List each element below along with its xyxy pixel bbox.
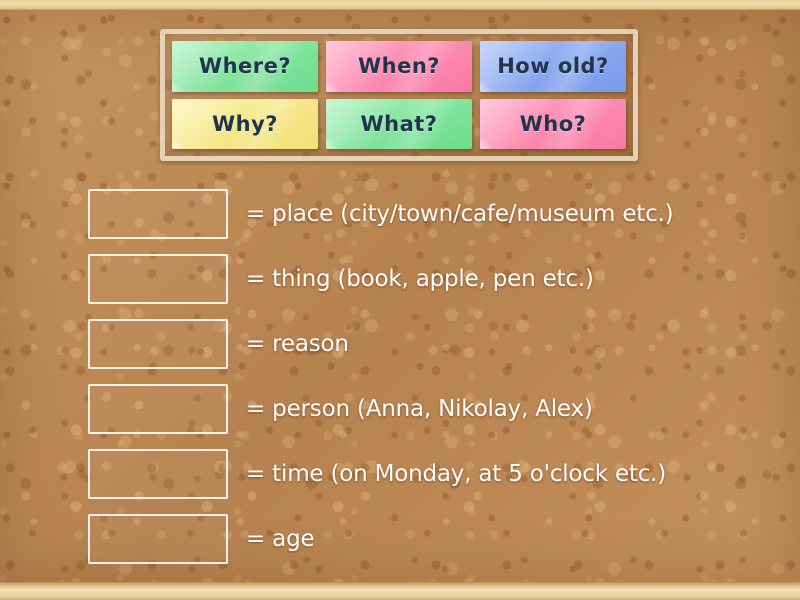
answer-row: = thing (book, apple, pen etc.) (88, 254, 778, 304)
tile-label: What? (360, 112, 437, 136)
answer-row: = time (on Monday, at 5 o'clock etc.) (88, 449, 778, 499)
tile-why[interactable]: Why? (172, 99, 318, 150)
tile-how-old[interactable]: How old? (480, 41, 626, 92)
tile-where[interactable]: Where? (172, 41, 318, 92)
answer-row: = person (Anna, Nikolay, Alex) (88, 384, 778, 434)
tile-label: Where? (199, 54, 291, 78)
tile-when[interactable]: When? (326, 41, 472, 92)
tile-label: Why? (212, 112, 278, 136)
drop-slot-3[interactable] (88, 319, 228, 369)
tile-tray: Where? When? How old? Why? What? Who? (160, 29, 638, 161)
tile-label: How old? (497, 54, 609, 78)
definition-label: = time (on Monday, at 5 o'clock etc.) (246, 461, 666, 487)
corkboard-activity: Where? When? How old? Why? What? Who? = … (0, 0, 800, 600)
drop-slot-6[interactable] (88, 514, 228, 564)
drop-slot-2[interactable] (88, 254, 228, 304)
tile-what[interactable]: What? (326, 99, 472, 150)
answer-row: = place (city/town/cafe/museum etc.) (88, 189, 778, 239)
definition-label: = reason (246, 331, 349, 357)
tile-who[interactable]: Who? (480, 99, 626, 150)
tile-label: Who? (520, 112, 587, 136)
answer-row: = reason (88, 319, 778, 369)
tile-grid: Where? When? How old? Why? What? Who? (172, 41, 626, 149)
drop-slot-5[interactable] (88, 449, 228, 499)
answer-row: = age (88, 514, 778, 564)
definition-label: = age (246, 526, 314, 552)
definition-label: = person (Anna, Nikolay, Alex) (246, 396, 593, 422)
definition-label: = thing (book, apple, pen etc.) (246, 266, 594, 292)
tile-label: When? (358, 54, 440, 78)
drop-slot-4[interactable] (88, 384, 228, 434)
answer-list: = place (city/town/cafe/museum etc.) = t… (88, 189, 778, 579)
definition-label: = place (city/town/cafe/museum etc.) (246, 201, 673, 227)
drop-slot-1[interactable] (88, 189, 228, 239)
